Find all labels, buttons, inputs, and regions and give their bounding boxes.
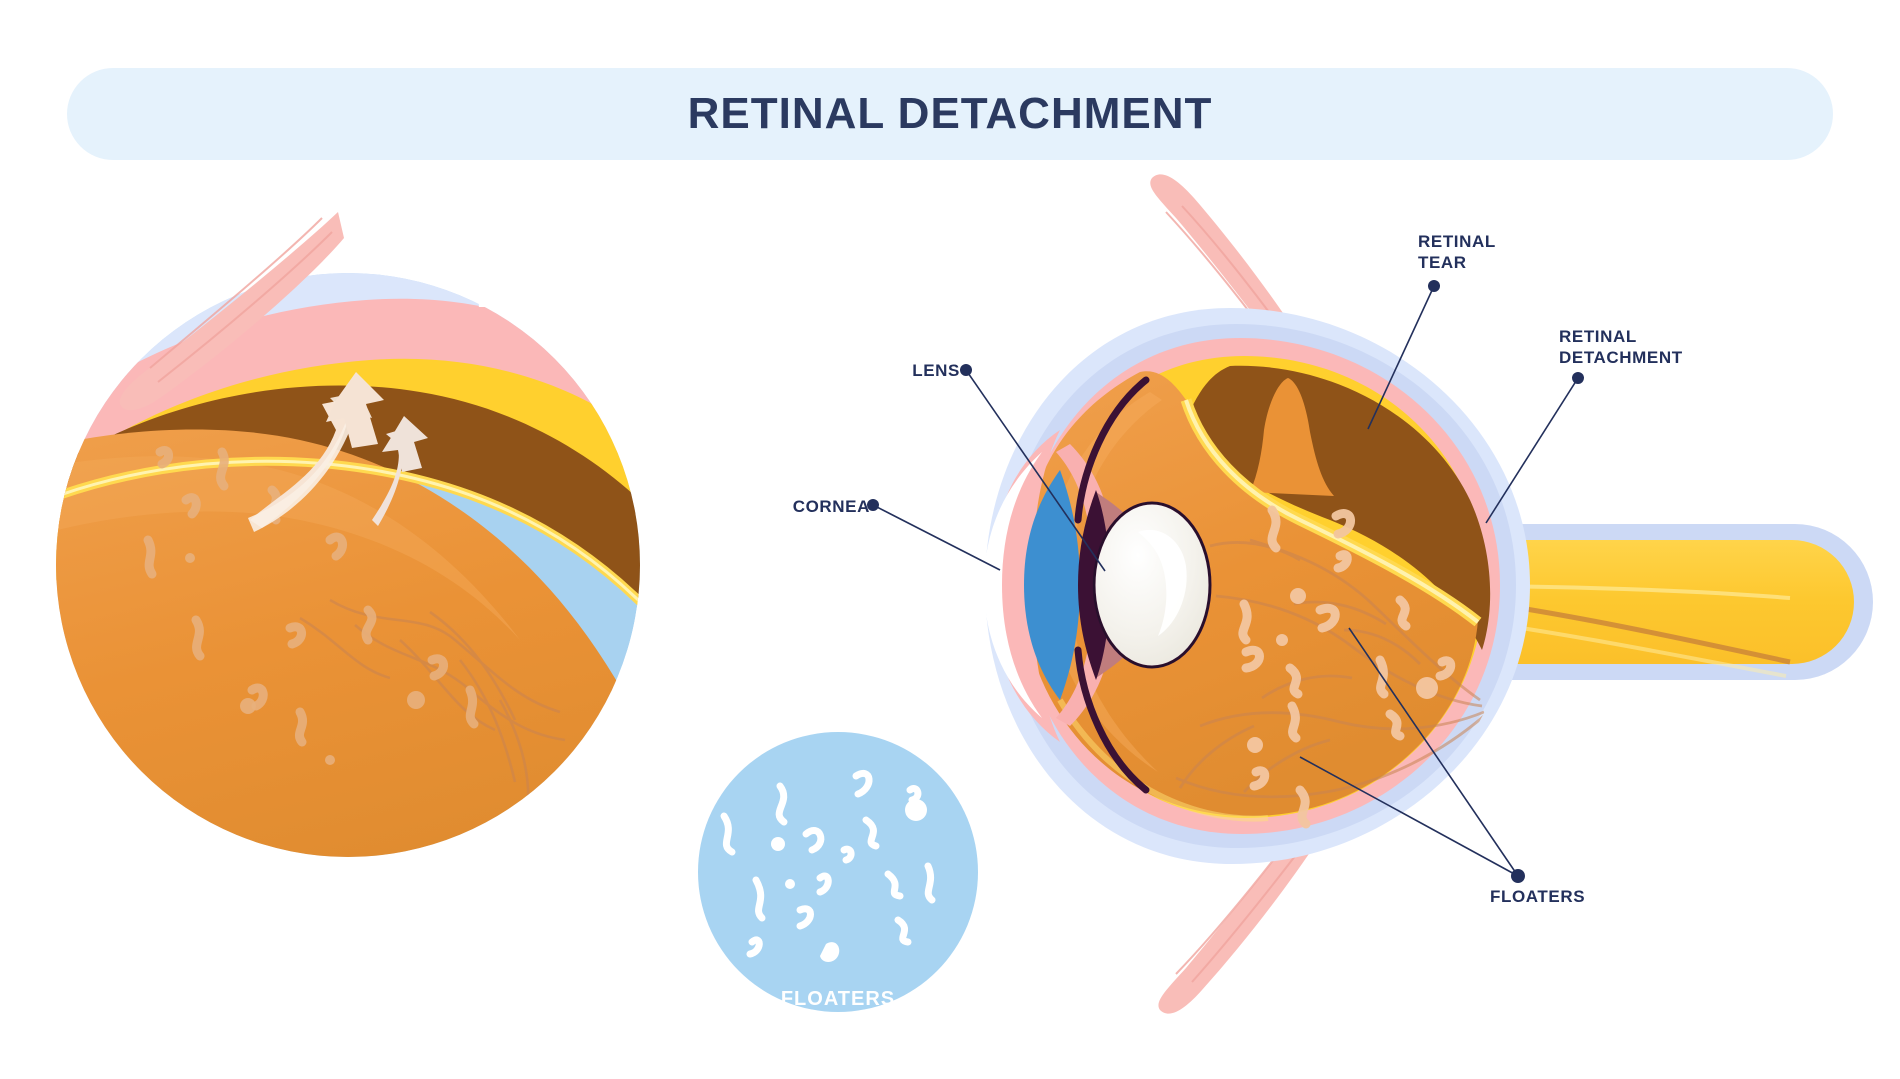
label-retina-detaches: RETINA DETACHES	[477, 247, 677, 315]
dot-floaters	[1511, 869, 1525, 883]
illustration-canvas: RETINAL DETACHMENT	[0, 0, 1900, 1079]
floaters-circle-group	[698, 732, 978, 1012]
right-eye-group	[984, 174, 1873, 1013]
callout-retinal-detachment: RETINAL DETACHMENT	[1559, 326, 1739, 368]
dot-retinal-tear	[1428, 280, 1440, 292]
callout-lens: LENS	[880, 360, 960, 381]
label-floaters-circle: FLOATERS	[738, 988, 938, 1011]
dot-retinal-detachment	[1572, 372, 1584, 384]
floaters-circle-bg	[698, 732, 978, 1012]
left-closeup-group	[0, 238, 756, 900]
callout-cornea: CORNEA	[770, 496, 870, 517]
diagrams-svg	[0, 0, 1900, 1079]
callout-floaters: FLOATERS	[1490, 886, 1650, 907]
line-retinal-detachment	[1486, 378, 1578, 523]
dot-lens	[960, 364, 972, 376]
callout-retinal-tear: RETINAL TEAR	[1418, 231, 1528, 273]
line-cornea	[873, 505, 1000, 570]
